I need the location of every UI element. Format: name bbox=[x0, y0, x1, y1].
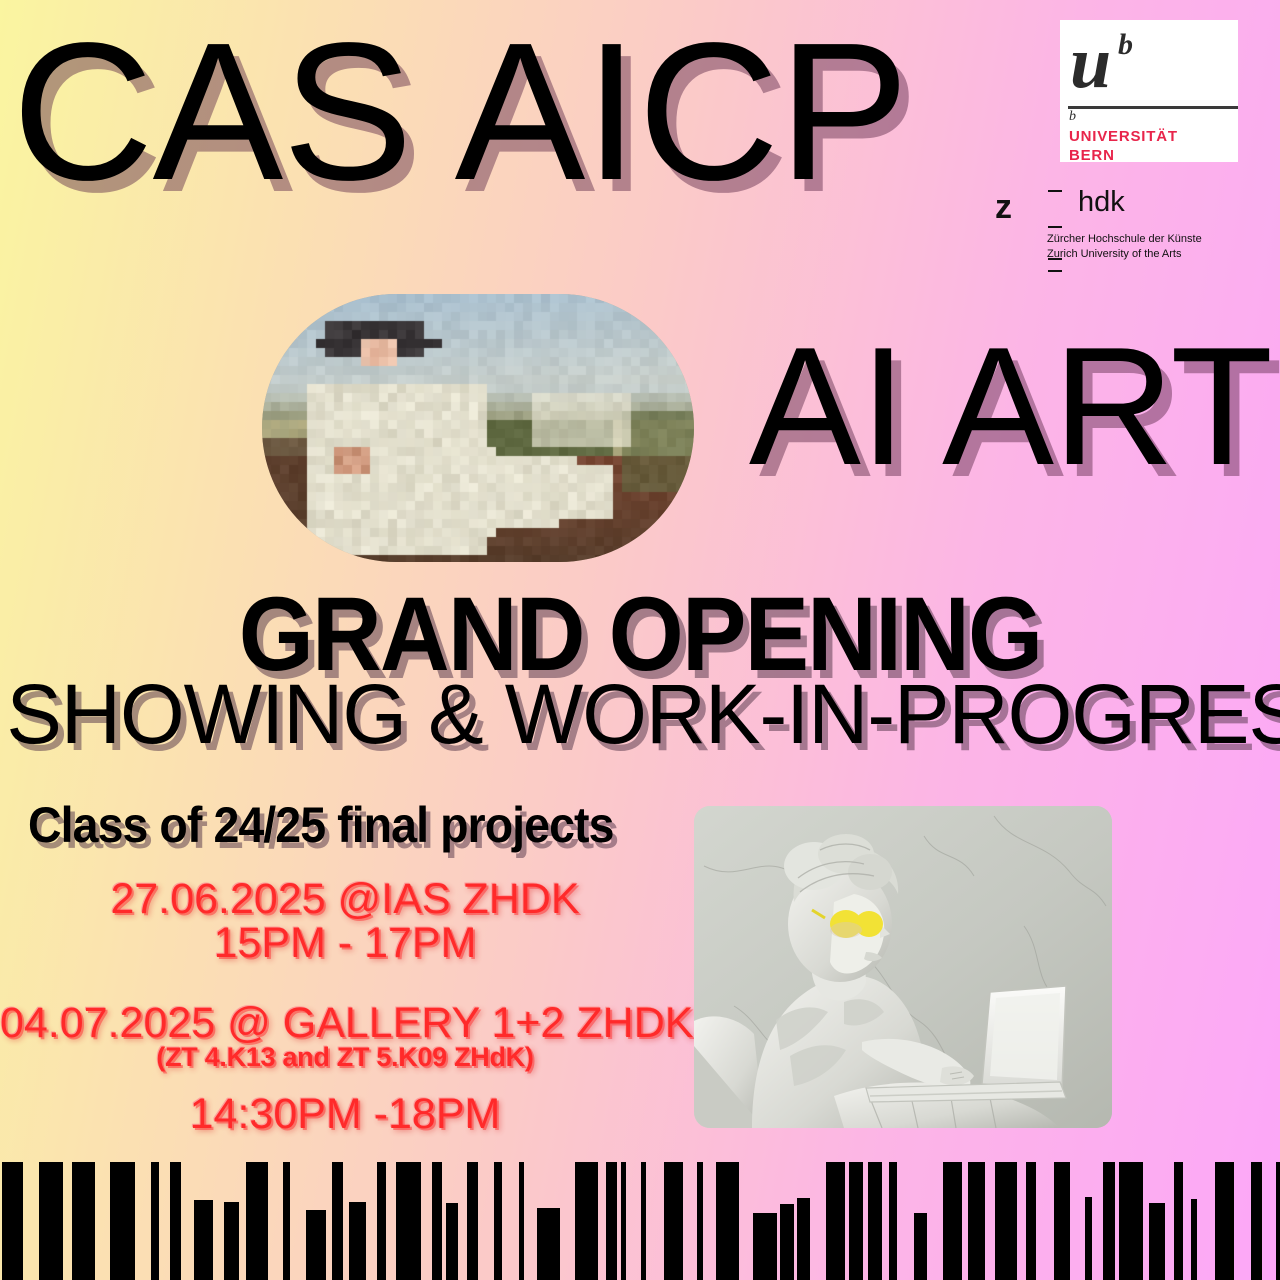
barcode-bar bbox=[283, 1162, 290, 1280]
barcode-bar bbox=[194, 1200, 213, 1280]
event-1-date-venue: 27.06.2025 @IAS ZHDK bbox=[0, 878, 690, 922]
logo-universitaet-bern: u b b UNIVERSITÄT BERN bbox=[1060, 20, 1238, 162]
barcode-bar bbox=[170, 1162, 181, 1280]
event-2-room: (ZT 4.K13 and ZT 5.K09 ZHdK) bbox=[0, 1044, 690, 1072]
zhdk-dash-3 bbox=[1048, 258, 1062, 260]
barcode-bar bbox=[1026, 1162, 1036, 1280]
barcode-bar bbox=[377, 1162, 386, 1280]
zhdk-subtitle-en: Zurich University of the Arts bbox=[1047, 247, 1202, 262]
barcode-bar bbox=[151, 1162, 159, 1280]
barcode-bar bbox=[432, 1162, 442, 1280]
event-2-time: 14:30PM -18PM bbox=[0, 1093, 690, 1137]
barcode-bar bbox=[349, 1202, 366, 1280]
barcode-bar bbox=[914, 1213, 927, 1280]
barcode-bar bbox=[396, 1162, 421, 1280]
barcode-bar bbox=[943, 1162, 962, 1280]
barcode-bar bbox=[494, 1162, 502, 1280]
unibe-wordmark-line1: UNIVERSITÄT bbox=[1069, 128, 1178, 147]
zhdk-hdk-mark: hdk bbox=[1078, 188, 1125, 217]
unibe-divider bbox=[1068, 106, 1238, 109]
subheadline-showing-wip: SHOWING & WORK-IN-PROGRESS bbox=[6, 672, 1273, 756]
barcode-bar bbox=[1103, 1162, 1115, 1280]
unibe-b-superscript: b bbox=[1118, 30, 1133, 60]
barcode-bar bbox=[753, 1213, 777, 1280]
event-2-date-venue: 04.07.2025 @ GALLERY 1+2 ZHDK bbox=[0, 1002, 690, 1046]
barcode-bar bbox=[641, 1162, 646, 1280]
barcode-bar bbox=[1276, 1162, 1280, 1280]
barcode-bar bbox=[1174, 1162, 1183, 1280]
logo-zhdk: z hdk Zürcher Hochschule der Künste Zuri… bbox=[995, 182, 1205, 274]
barcode-bar bbox=[1054, 1162, 1070, 1280]
barcode-bar bbox=[446, 1203, 458, 1280]
barcode-bar bbox=[1085, 1197, 1092, 1280]
barcode-bar bbox=[826, 1162, 845, 1280]
barcode-strip bbox=[0, 1162, 1280, 1280]
barcode-bar bbox=[1215, 1162, 1234, 1280]
statue-laptop-image bbox=[694, 806, 1112, 1128]
barcode-bar bbox=[1191, 1199, 1197, 1280]
class-of-line: Class of 24/25 final projects bbox=[28, 800, 614, 850]
barcode-bar bbox=[621, 1162, 626, 1280]
painting-image-oval bbox=[262, 294, 694, 562]
barcode-bar bbox=[664, 1162, 683, 1280]
unibe-wordmark: UNIVERSITÄT BERN bbox=[1069, 128, 1178, 166]
zhdk-dash-1 bbox=[1048, 190, 1062, 192]
barcode-bar bbox=[110, 1162, 135, 1280]
barcode-bar bbox=[606, 1162, 617, 1280]
pixelated-painting-canvas bbox=[262, 294, 694, 562]
barcode-bar bbox=[716, 1162, 739, 1280]
barcode-bar bbox=[1149, 1203, 1165, 1280]
event-block-2: 04.07.2025 @ GALLERY 1+2 ZHDK (ZT 4.K13 … bbox=[0, 1002, 690, 1137]
barcode-bar bbox=[697, 1162, 703, 1280]
barcode-bar bbox=[72, 1162, 95, 1280]
event-1-time: 15PM - 17PM bbox=[0, 922, 690, 966]
zhdk-dash-4 bbox=[1048, 270, 1062, 272]
zhdk-subtitle: Zürcher Hochschule der Künste Zurich Uni… bbox=[1047, 232, 1202, 262]
barcode-bar bbox=[537, 1208, 560, 1280]
unibe-u-mark: u bbox=[1070, 26, 1111, 100]
zhdk-subtitle-de: Zürcher Hochschule der Künste bbox=[1047, 232, 1202, 247]
barcode-bar bbox=[868, 1162, 882, 1280]
barcode-bar bbox=[575, 1162, 598, 1280]
barcode-bar bbox=[467, 1162, 478, 1280]
barcode-bar bbox=[780, 1204, 794, 1280]
page-title-ai-art: AI ART bbox=[749, 322, 1272, 490]
barcode-bar bbox=[849, 1162, 863, 1280]
page-title-cas-aicp: CAS AICP bbox=[12, 14, 908, 210]
barcode-bar bbox=[39, 1162, 63, 1280]
unibe-small-b: b bbox=[1069, 110, 1076, 124]
barcode-bar bbox=[968, 1162, 985, 1280]
barcode-bar bbox=[797, 1198, 810, 1280]
event-block-1: 27.06.2025 @IAS ZHDK 15PM - 17PM bbox=[0, 878, 690, 966]
unibe-wordmark-line2: BERN bbox=[1069, 147, 1178, 166]
zhdk-dash-2 bbox=[1048, 226, 1062, 228]
barcode-bar bbox=[995, 1162, 1017, 1280]
barcode-bar bbox=[1251, 1162, 1262, 1280]
zhdk-z-mark: z bbox=[995, 190, 1012, 224]
barcode-bar bbox=[224, 1202, 239, 1280]
barcode-bar bbox=[332, 1162, 343, 1280]
barcode-bar bbox=[519, 1162, 524, 1280]
barcode-bar bbox=[246, 1162, 268, 1280]
barcode-bar bbox=[889, 1162, 897, 1280]
barcode-bar bbox=[306, 1210, 326, 1280]
statue-illustration bbox=[694, 806, 1112, 1128]
barcode-bar bbox=[2, 1162, 23, 1280]
poster-canvas: CAS AICP AI ART GRAND OPENING SHOWING & … bbox=[0, 0, 1280, 1280]
barcode-bar bbox=[1119, 1162, 1143, 1280]
